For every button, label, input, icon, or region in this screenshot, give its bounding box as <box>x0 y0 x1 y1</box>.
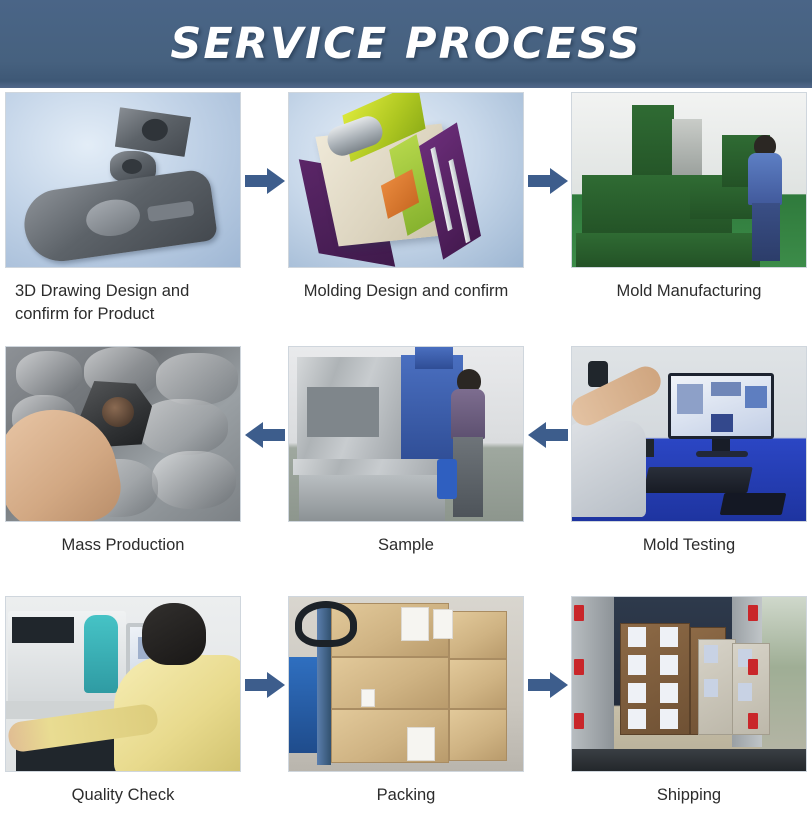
arrow-shaft <box>245 679 269 691</box>
cnc-control-panel <box>672 119 702 177</box>
mass-production-photo <box>6 347 240 521</box>
packed-bag <box>156 353 238 405</box>
arrow-shaft <box>261 429 285 441</box>
step-3-image <box>571 92 807 268</box>
page-title: SERVICE PROCESS <box>170 19 641 69</box>
measuring-fixture <box>588 361 608 387</box>
quality-check-photo <box>6 597 240 771</box>
carton-label <box>628 655 646 675</box>
reflector-marker <box>748 605 758 621</box>
shipping-label <box>407 727 435 761</box>
packed-bag <box>16 351 82 397</box>
carton-box <box>449 611 507 659</box>
carton-box <box>331 657 449 709</box>
step-1-image <box>5 92 241 268</box>
process-step-7[interactable]: Quality Check <box>5 596 241 816</box>
step-7-image <box>5 596 241 772</box>
cad-drawing-illustration <box>6 93 240 267</box>
screen-window <box>677 384 703 414</box>
connector-gap-6 <box>524 596 571 816</box>
carton-label <box>660 655 678 675</box>
step-6-image <box>571 346 807 522</box>
mold-design-illustration <box>289 93 523 267</box>
keyboard <box>643 467 753 493</box>
carton-label <box>660 627 678 647</box>
reflector-marker <box>574 713 584 729</box>
page-header: SERVICE PROCESS <box>0 0 812 88</box>
reflector-marker <box>574 605 584 621</box>
arrow-head <box>528 422 546 448</box>
mold-plate-right <box>419 122 481 259</box>
worker-shirt <box>451 389 485 439</box>
step-2-caption: Molding Design and confirm <box>288 268 524 303</box>
hood-window <box>307 387 379 437</box>
step-5-caption: Sample <box>288 522 524 557</box>
machine-plinth <box>576 233 760 267</box>
step-8-image <box>288 596 524 772</box>
machine-shroud <box>12 617 74 643</box>
arrow-right-icon <box>245 168 285 194</box>
packed-bag <box>152 451 236 509</box>
step-2-image <box>288 92 524 268</box>
carton-label <box>628 709 646 729</box>
shipping-label <box>401 607 429 641</box>
process-step-5[interactable]: Sample <box>288 346 524 596</box>
arrow-left-icon <box>528 422 568 448</box>
arrow-head <box>550 168 568 194</box>
process-step-9[interactable]: Shipping <box>571 596 807 816</box>
carton-label <box>704 645 718 663</box>
carton-label <box>628 627 646 647</box>
arrow-right-icon <box>528 168 568 194</box>
arrow-head <box>267 168 285 194</box>
cad-main-bracket <box>20 168 218 266</box>
truck-bumper <box>572 749 806 771</box>
shipping-photo <box>572 597 806 771</box>
mold-testing-photo <box>572 347 806 521</box>
machine-top-unit <box>415 347 453 369</box>
process-step-6[interactable]: Mold Testing <box>571 346 807 596</box>
arrow-shaft <box>245 175 269 187</box>
monitor-base <box>696 451 748 457</box>
arrow-head <box>267 672 285 698</box>
screen-window <box>745 386 767 408</box>
step-7-caption: Quality Check <box>5 772 241 807</box>
machine-teal-panel <box>84 615 118 693</box>
step-8-caption: Packing <box>288 772 524 807</box>
mouse-pad <box>720 493 787 515</box>
carton-box <box>449 659 507 709</box>
mold-manufacturing-photo <box>572 93 806 267</box>
step-6-caption: Mold Testing <box>571 522 807 557</box>
process-step-1[interactable]: 3D Drawing Design and confirm for Produc… <box>5 92 241 346</box>
step-5-image <box>288 346 524 522</box>
process-step-2[interactable]: Molding Design and confirm <box>288 92 524 346</box>
worker-trousers <box>752 203 780 261</box>
arrow-shaft <box>528 679 552 691</box>
work-table-top <box>293 459 451 475</box>
worker-shirt <box>748 153 782 205</box>
carton-label <box>738 683 752 701</box>
screen-window <box>711 414 733 432</box>
process-row-1: 3D Drawing Design and confirm for Produc… <box>5 92 807 346</box>
connector-gap-1 <box>241 92 288 346</box>
step-9-image <box>571 596 807 772</box>
arrow-head <box>550 672 568 698</box>
process-step-4[interactable]: Mass Production <box>5 346 241 596</box>
packing-photo <box>289 597 523 771</box>
molded-part-bore <box>102 397 134 427</box>
connector-gap-4 <box>524 346 571 596</box>
process-board: 3D Drawing Design and confirm for Produc… <box>0 88 812 812</box>
process-step-3[interactable]: Mold Manufacturing <box>571 92 807 346</box>
arrow-right-icon <box>245 672 285 698</box>
step-4-image <box>5 346 241 522</box>
step-3-caption: Mold Manufacturing <box>571 268 807 303</box>
carton-label <box>660 683 678 703</box>
connector-gap-2 <box>524 92 571 346</box>
worker-trousers <box>453 437 483 517</box>
arrow-left-icon <box>245 422 285 448</box>
inspector-head <box>142 603 206 665</box>
reflector-marker <box>748 659 758 675</box>
operator-shirt <box>571 421 646 517</box>
shipping-label <box>433 609 453 639</box>
pallet-jack-handle <box>295 601 357 647</box>
reflector-marker <box>574 659 584 675</box>
step-4-caption: Mass Production <box>5 522 241 557</box>
carton-box <box>449 709 507 761</box>
reflector-marker <box>748 713 758 729</box>
process-row-3: Quality Check <box>5 596 807 816</box>
carton-label <box>704 679 718 697</box>
arrow-right-icon <box>528 672 568 698</box>
arrow-head <box>245 422 263 448</box>
connector-gap-3 <box>241 346 288 596</box>
carton-label <box>660 709 678 729</box>
work-table-body <box>299 475 445 521</box>
blue-bin <box>437 459 457 499</box>
process-step-8[interactable]: Packing <box>288 596 524 816</box>
step-9-caption: Shipping <box>571 772 807 807</box>
screen-window <box>711 382 741 396</box>
process-row-2: Mass Production <box>5 346 807 596</box>
connector-gap-5 <box>241 596 288 816</box>
arrow-shaft <box>544 429 568 441</box>
sample-photo <box>289 347 523 521</box>
arrow-shaft <box>528 175 552 187</box>
monitor-screen <box>671 376 771 436</box>
carton-label <box>628 683 646 703</box>
shipping-label <box>361 689 375 707</box>
monitor <box>668 373 774 439</box>
step-1-caption: 3D Drawing Design and confirm for Produc… <box>5 268 241 326</box>
